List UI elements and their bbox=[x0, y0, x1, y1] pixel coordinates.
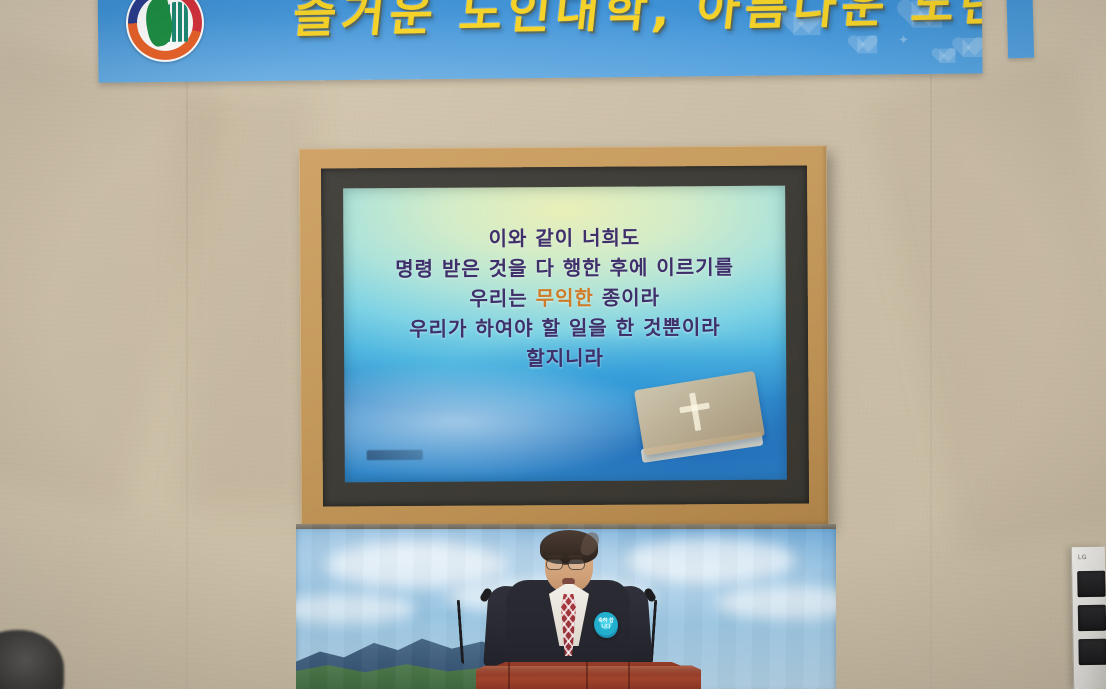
aircon-vent bbox=[1078, 605, 1106, 631]
podium-panel-seam bbox=[628, 662, 630, 689]
slide-line-3-highlight: 무익한 bbox=[536, 286, 594, 310]
aircon-brand-label: LG bbox=[1078, 554, 1087, 561]
podium-panel-seam bbox=[508, 662, 510, 689]
corsage-label: 축하 합니다 bbox=[596, 618, 616, 631]
air-conditioner-unit: LG bbox=[1071, 547, 1106, 689]
event-banner: ✦ ✦ ✧ ✦ ㄴㄴㄴ ㅡ ㄴ ㄴㅐ ㅣ 즐거운 노인대학, 아름다운 노년 bbox=[97, 0, 982, 83]
glasses-lens-left bbox=[546, 559, 563, 570]
slide-line-3-post: 종이라 bbox=[594, 285, 660, 309]
microphone-left bbox=[457, 600, 464, 664]
slide-text-block: 이와 같이 너희도 명령 받은 것을 다 행한 후에 이르기를 우리는 무익한 … bbox=[343, 222, 786, 375]
screen-mat: 이와 같이 너희도 명령 받은 것을 다 행한 후에 이르기를 우리는 무익한 … bbox=[321, 166, 809, 507]
banner-side-strip bbox=[1006, 0, 1034, 58]
wooden-podium bbox=[476, 662, 701, 689]
aircon-vent bbox=[1078, 639, 1106, 665]
slide-line-3: 우리는 무익한 종이라 bbox=[344, 282, 786, 315]
speaker-mouth bbox=[562, 578, 575, 585]
wall-shadow bbox=[182, 90, 312, 510]
slide-line-1: 이와 같이 너희도 bbox=[343, 222, 785, 255]
slide-line-3-pre: 우리는 bbox=[469, 286, 535, 310]
slide-line-4: 우리가 하여야 할 일을 한 것뿐이라 bbox=[344, 312, 786, 345]
speaker-eyebrow-left bbox=[547, 555, 562, 558]
glasses-bridge bbox=[563, 563, 568, 565]
slide-watermark bbox=[367, 450, 423, 460]
glasses-lens-right bbox=[568, 559, 585, 570]
slide-line-5: 할지니라 bbox=[344, 342, 786, 375]
senior-college-emblem bbox=[126, 0, 205, 62]
slide-line-2: 명령 받은 것을 다 행한 후에 이르기를 bbox=[343, 252, 785, 285]
stage-backdrop: 축하 합니다 bbox=[296, 524, 836, 689]
podium-panel-seam bbox=[586, 662, 588, 689]
banner-main-text: 즐거운 노인대학, 아름다운 노년 bbox=[290, 0, 983, 46]
speaker-eyebrow-right bbox=[568, 555, 583, 558]
aircon-vent bbox=[1077, 571, 1105, 597]
photo-scene: ✦ ✦ ✧ ✦ ㄴㄴㄴ ㅡ ㄴ ㄴㅐ ㅣ 즐거운 노인대학, 아름다운 노년 이… bbox=[0, 0, 1106, 689]
projection-screen-frame: 이와 같이 너희도 명령 받은 것을 다 행한 후에 이르기를 우리는 무익한 … bbox=[299, 145, 829, 528]
projection-screen: 이와 같이 너희도 명령 받은 것을 다 행한 후에 이르기를 우리는 무익한 … bbox=[343, 186, 787, 483]
